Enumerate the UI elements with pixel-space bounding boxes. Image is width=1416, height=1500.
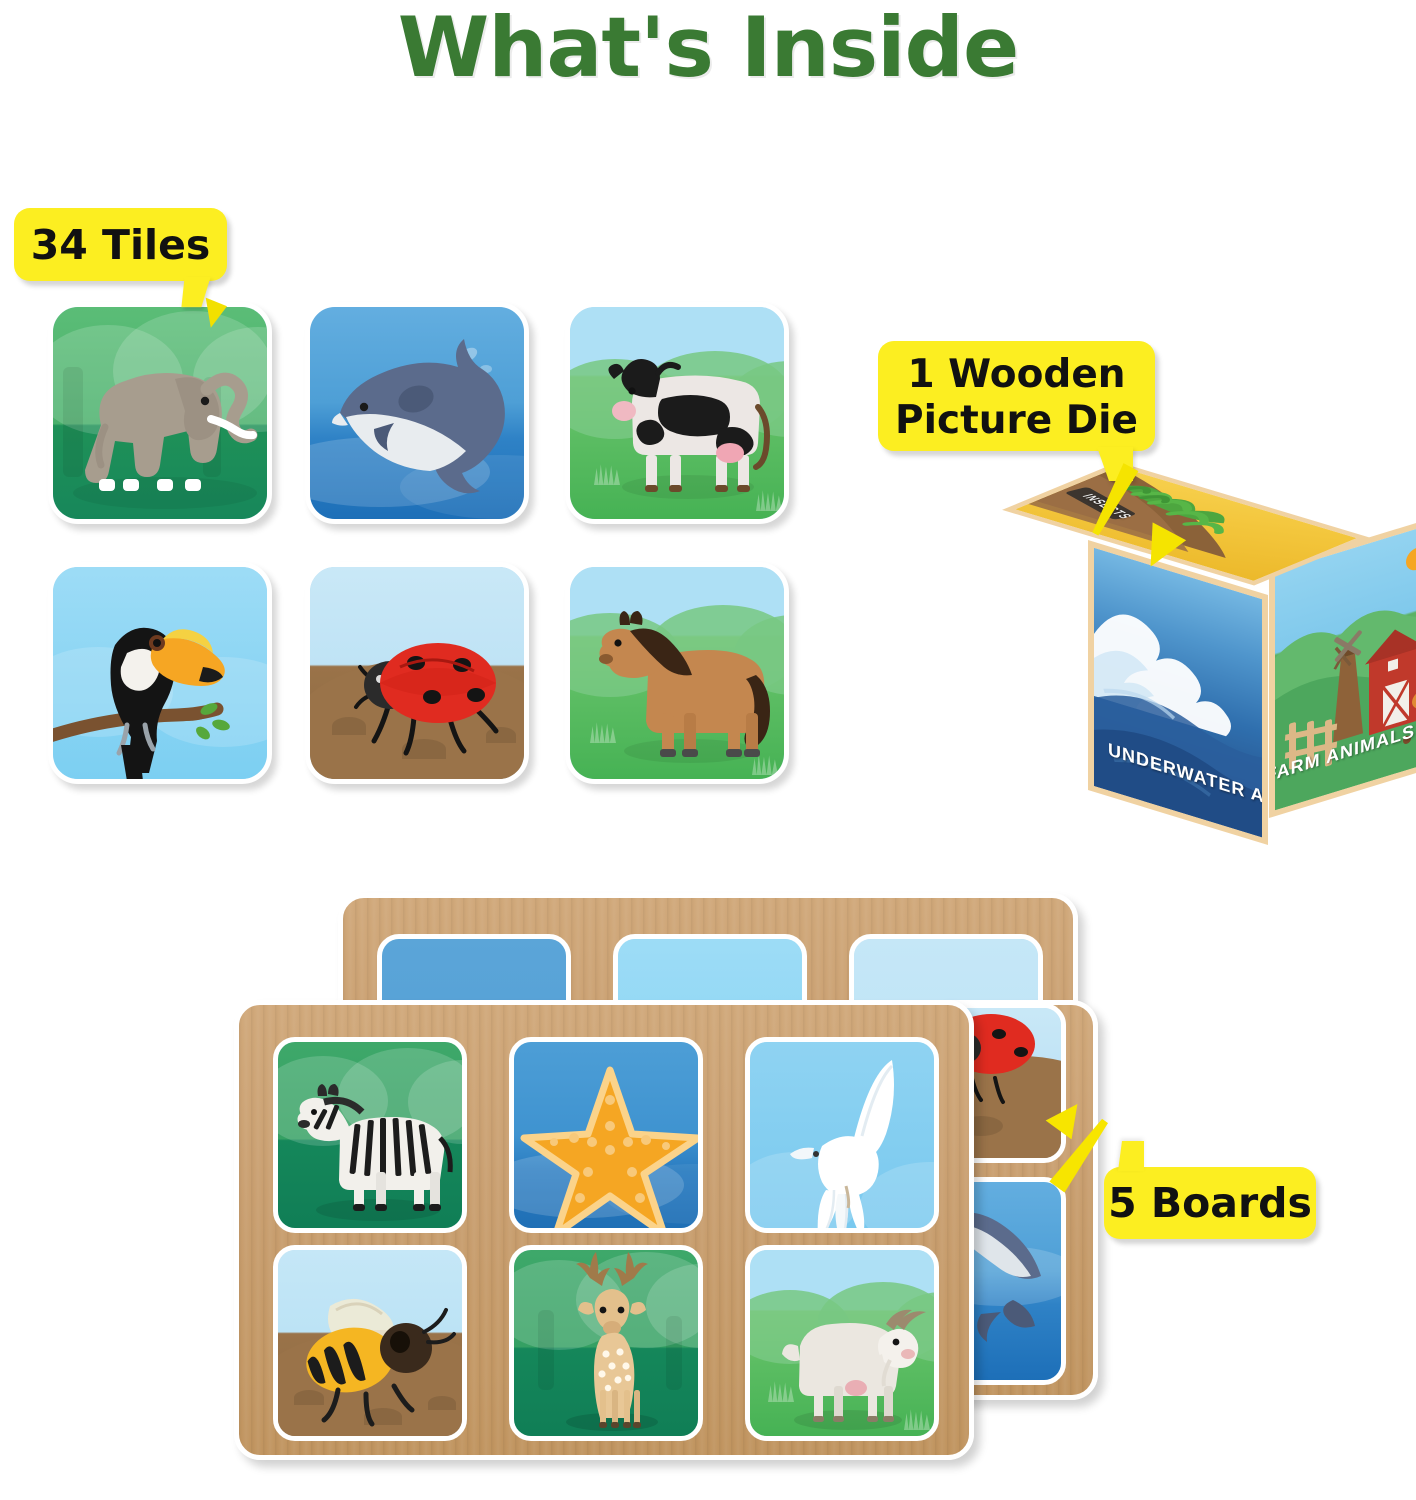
dolphin-icon [310, 307, 524, 519]
elephant-icon [53, 307, 267, 519]
callout-5-boards-label: 5 Boards [1104, 1179, 1316, 1227]
dove-icon [750, 1042, 939, 1233]
tile-ladybug-art [310, 567, 524, 779]
horse-icon [570, 567, 784, 779]
toucan-icon [53, 567, 267, 779]
tile-elephant-art [53, 307, 267, 519]
goat-icon [750, 1250, 939, 1441]
tile-cow[interactable] [565, 302, 789, 524]
callout-wooden-die: 1 Wooden Picture Die [878, 341, 1155, 451]
board-front-slot-deer[interactable] [509, 1245, 703, 1441]
tile-toucan-art [53, 567, 267, 779]
tile-dolphin-art [310, 307, 524, 519]
tile-toucan[interactable] [48, 562, 272, 784]
whats-inside-infographic: What's Inside 34 Tiles [0, 0, 1416, 1500]
die-face-underwater[interactable]: UNDERWATER ANIMALS [1088, 540, 1268, 845]
ladybug-icon [310, 567, 524, 779]
page-title: What's Inside [0, 0, 1416, 95]
starfish-icon [514, 1042, 703, 1233]
callout-die-line1: 1 Wooden [907, 352, 1125, 397]
board-front[interactable] [234, 1000, 974, 1460]
board-front-slot-zebra[interactable] [273, 1037, 467, 1233]
board-front-slot-dove[interactable] [745, 1037, 939, 1233]
board-front-slot-starfish[interactable] [509, 1037, 703, 1233]
wooden-picture-die[interactable]: UNDERWATER ANIMALS [1066, 462, 1386, 807]
zebra-icon [278, 1042, 467, 1233]
callout-34-tiles-label: 34 Tiles [14, 221, 227, 269]
callout-tail-icon [1118, 1141, 1144, 1171]
callout-34-tiles: 34 Tiles [14, 208, 227, 281]
board-front-slot-bee[interactable] [273, 1245, 467, 1441]
tile-elephant[interactable] [48, 302, 272, 524]
cow-icon [570, 307, 784, 519]
callout-wooden-die-label: 1 Wooden Picture Die [878, 352, 1155, 444]
tile-ladybug[interactable] [305, 562, 529, 784]
tile-dolphin[interactable] [305, 302, 529, 524]
callout-die-line2: Picture Die [895, 398, 1138, 443]
tile-horse[interactable] [565, 562, 789, 784]
tile-horse-art [570, 567, 784, 779]
bee-icon [278, 1250, 467, 1441]
tile-cow-art [570, 307, 784, 519]
callout-5-boards: 5 Boards [1104, 1167, 1316, 1239]
board-front-slot-goat[interactable] [745, 1245, 939, 1441]
deer-icon [514, 1250, 703, 1441]
